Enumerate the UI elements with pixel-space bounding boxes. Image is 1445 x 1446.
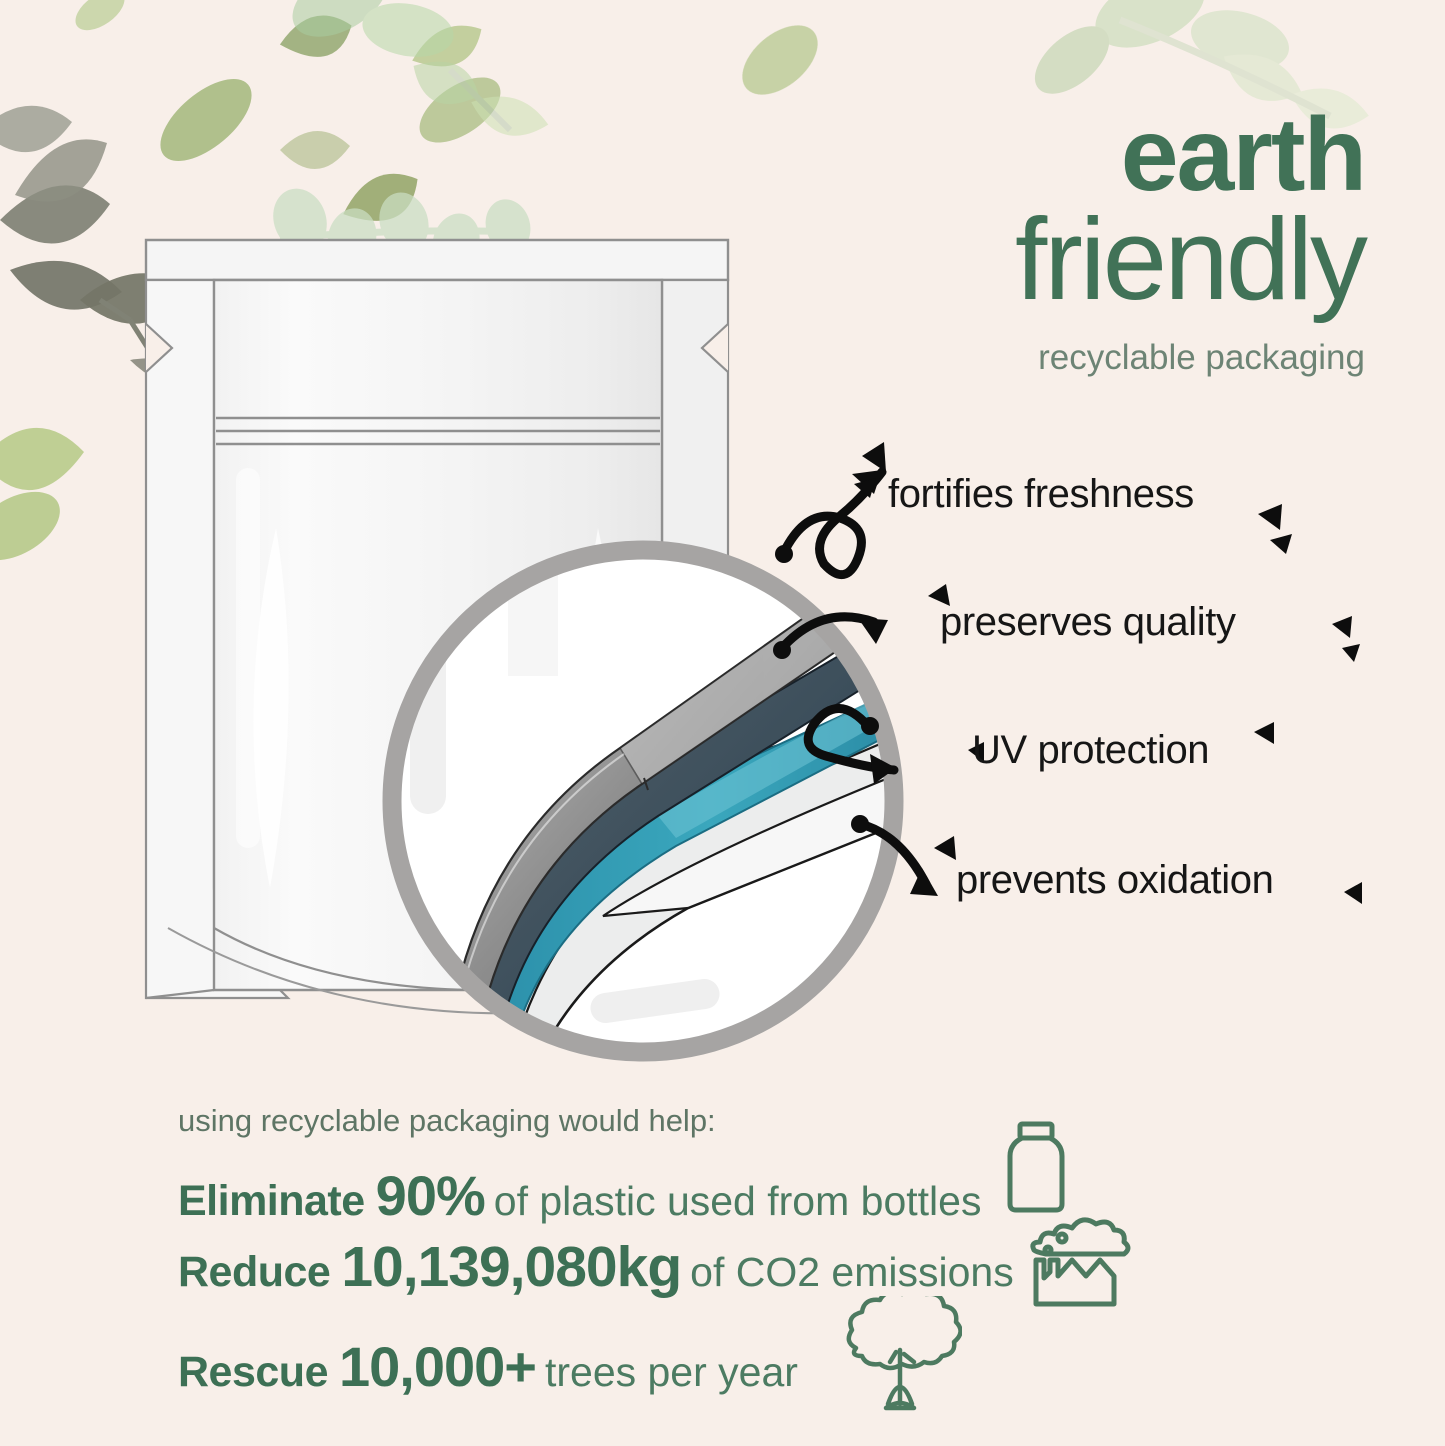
infographic-canvas: earth friendly recyclable packaging fort…	[0, 0, 1445, 1446]
stat-tail-co2: of CO2 emissions	[690, 1249, 1014, 1296]
headline-line-2: friendly	[845, 204, 1365, 315]
stat-value-trees: 10,000+	[339, 1334, 536, 1399]
factory-smoke-icon	[1028, 1216, 1140, 1312]
stat-value-plastic: 90%	[376, 1163, 485, 1228]
headline-line-1: earth	[845, 108, 1365, 204]
feature-label-prevents-oxidation: prevents oxidation	[956, 858, 1273, 903]
stat-row-plastic: Eliminate 90% of plastic used from bottl…	[178, 1163, 981, 1228]
stat-tail-trees: trees per year	[545, 1349, 798, 1396]
stat-lead-trees: Rescue	[178, 1348, 328, 1397]
feature-label-preserves-quality: preserves quality	[940, 600, 1236, 645]
feature-label-fortifies-freshness: fortifies freshness	[888, 472, 1194, 517]
feature-label-uv-protection: UV protection	[972, 728, 1209, 773]
stat-lead-co2: Reduce	[178, 1248, 330, 1297]
stats-intro-text: using recyclable packaging would help:	[178, 1103, 716, 1139]
page-title: earth friendly	[845, 108, 1365, 315]
stat-value-co2: 10,139,080kg	[341, 1234, 681, 1300]
tree-icon	[838, 1296, 962, 1420]
stat-row-trees: Rescue 10,000+ trees per year	[178, 1334, 798, 1399]
stat-row-co2: Reduce 10,139,080kg of CO2 emissions	[178, 1234, 1014, 1300]
stat-tail-plastic: of plastic used from bottles	[494, 1178, 982, 1225]
watercolor-leaves-top	[280, 0, 840, 240]
stat-lead-plastic: Eliminate	[178, 1177, 365, 1226]
bottle-icon	[1000, 1120, 1072, 1216]
headline-subtitle: recyclable packaging	[700, 338, 1365, 378]
